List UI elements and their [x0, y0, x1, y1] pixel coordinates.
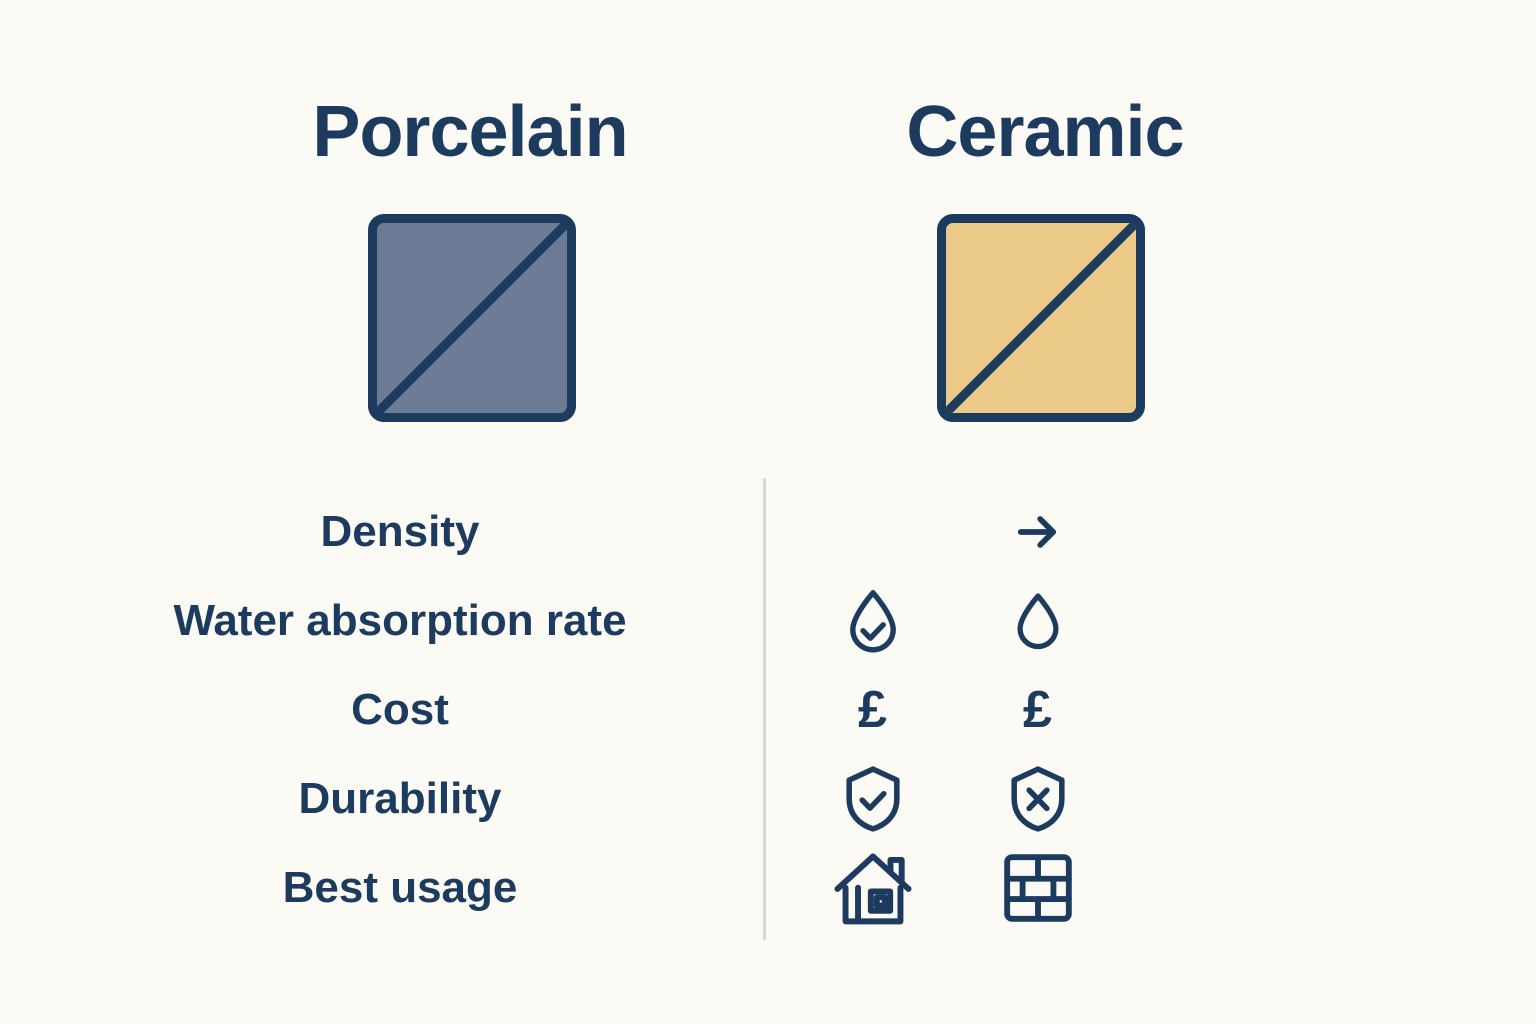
- column-divider: [763, 478, 766, 940]
- brick-wall-icon: [1001, 851, 1075, 925]
- comparison-infographic: Porcelain Ceramic Density Water absorpti…: [0, 0, 1536, 1024]
- ceramic-column-title: Ceramic: [745, 96, 1345, 168]
- attribute-label-list: Density Water absorption rate Cost Durab…: [60, 487, 740, 932]
- ceramic-usage-icon-cell: [955, 851, 1120, 925]
- porcelain-column-title: Porcelain: [170, 96, 770, 168]
- ceramic-cost-icon-cell: £: [955, 684, 1120, 736]
- attribute-label-cost: Cost: [60, 665, 740, 754]
- shield-check-icon: [839, 763, 907, 835]
- shield-x-icon: [1004, 763, 1072, 835]
- icon-row-water-absorption: [790, 576, 1120, 665]
- droplet-check-icon: [840, 586, 906, 656]
- house-icon: [832, 849, 914, 927]
- droplet-icon: [1009, 590, 1067, 652]
- icon-row-density: [790, 487, 1120, 576]
- pound-sign-icon: £: [858, 684, 887, 736]
- porcelain-tile-swatch: [368, 214, 576, 422]
- pound-sign-icon: £: [1023, 684, 1052, 736]
- attribute-label-best-usage: Best usage: [60, 843, 740, 932]
- porcelain-water-icon-cell: [790, 586, 955, 656]
- porcelain-usage-icon-cell: [790, 849, 955, 927]
- ceramic-water-icon-cell: [955, 590, 1120, 652]
- ceramic-diagonal-line-icon: [946, 223, 1136, 413]
- icon-row-durability: [790, 754, 1120, 843]
- ceramic-tile-swatch: [937, 214, 1145, 422]
- attribute-label-durability: Durability: [60, 754, 740, 843]
- porcelain-durability-icon-cell: [790, 763, 955, 835]
- arrow-right-icon: [1012, 506, 1064, 558]
- ceramic-density-icon-cell: [955, 506, 1120, 558]
- attribute-label-density: Density: [60, 487, 740, 576]
- icon-row-cost: £ £: [790, 665, 1120, 754]
- porcelain-diagonal-line-icon: [377, 223, 567, 413]
- attribute-label-water-absorption-rate: Water absorption rate: [60, 576, 740, 665]
- icon-row-best-usage: [790, 843, 1120, 932]
- icon-comparison-grid: £ £: [790, 487, 1120, 932]
- ceramic-durability-icon-cell: [955, 763, 1120, 835]
- porcelain-cost-icon-cell: £: [790, 684, 955, 736]
